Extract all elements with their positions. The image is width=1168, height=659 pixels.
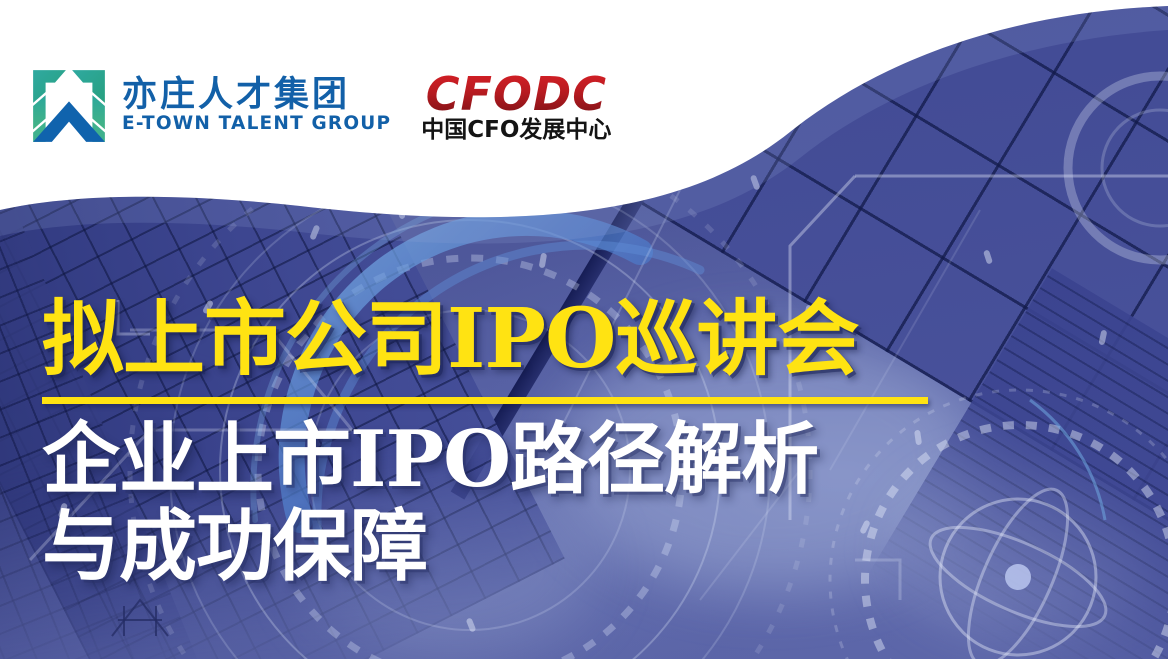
poster-subtitle-line-1: 企业上市IPO路径解析: [42, 416, 1092, 503]
logo-bar: 亦庄人才集团 E-TOWN TALENT GROUP CFODC 中国CFO发展…: [0, 56, 611, 156]
cfodc-acronym: CFODC: [426, 71, 607, 117]
poster-canvas: 亦庄人才集团 E-TOWN TALENT GROUP CFODC 中国CFO发展…: [0, 0, 1168, 659]
poster-title: 拟上市公司IPO巡讲会: [42, 296, 1092, 383]
etown-chinese-name: 亦庄人才集团: [122, 78, 391, 113]
cfodc-chinese-name: 中国CFO发展中心: [421, 119, 611, 142]
etown-talent-group-logo: 亦庄人才集团 E-TOWN TALENT GROUP: [30, 67, 391, 145]
etown-wordmark: 亦庄人才集团 E-TOWN TALENT GROUP: [122, 78, 391, 134]
e-town-talent-group-logomark: [30, 67, 108, 145]
etown-english-name: E-TOWN TALENT GROUP: [122, 115, 391, 134]
poster-subtitle-line-2: 与成功保障: [42, 503, 1092, 590]
cfodc-logo: CFODC 中国CFO发展中心: [421, 71, 611, 142]
title-block: 拟上市公司IPO巡讲会 企业上市IPO路径解析 与成功保障: [42, 296, 1092, 591]
title-underline: [42, 397, 928, 404]
